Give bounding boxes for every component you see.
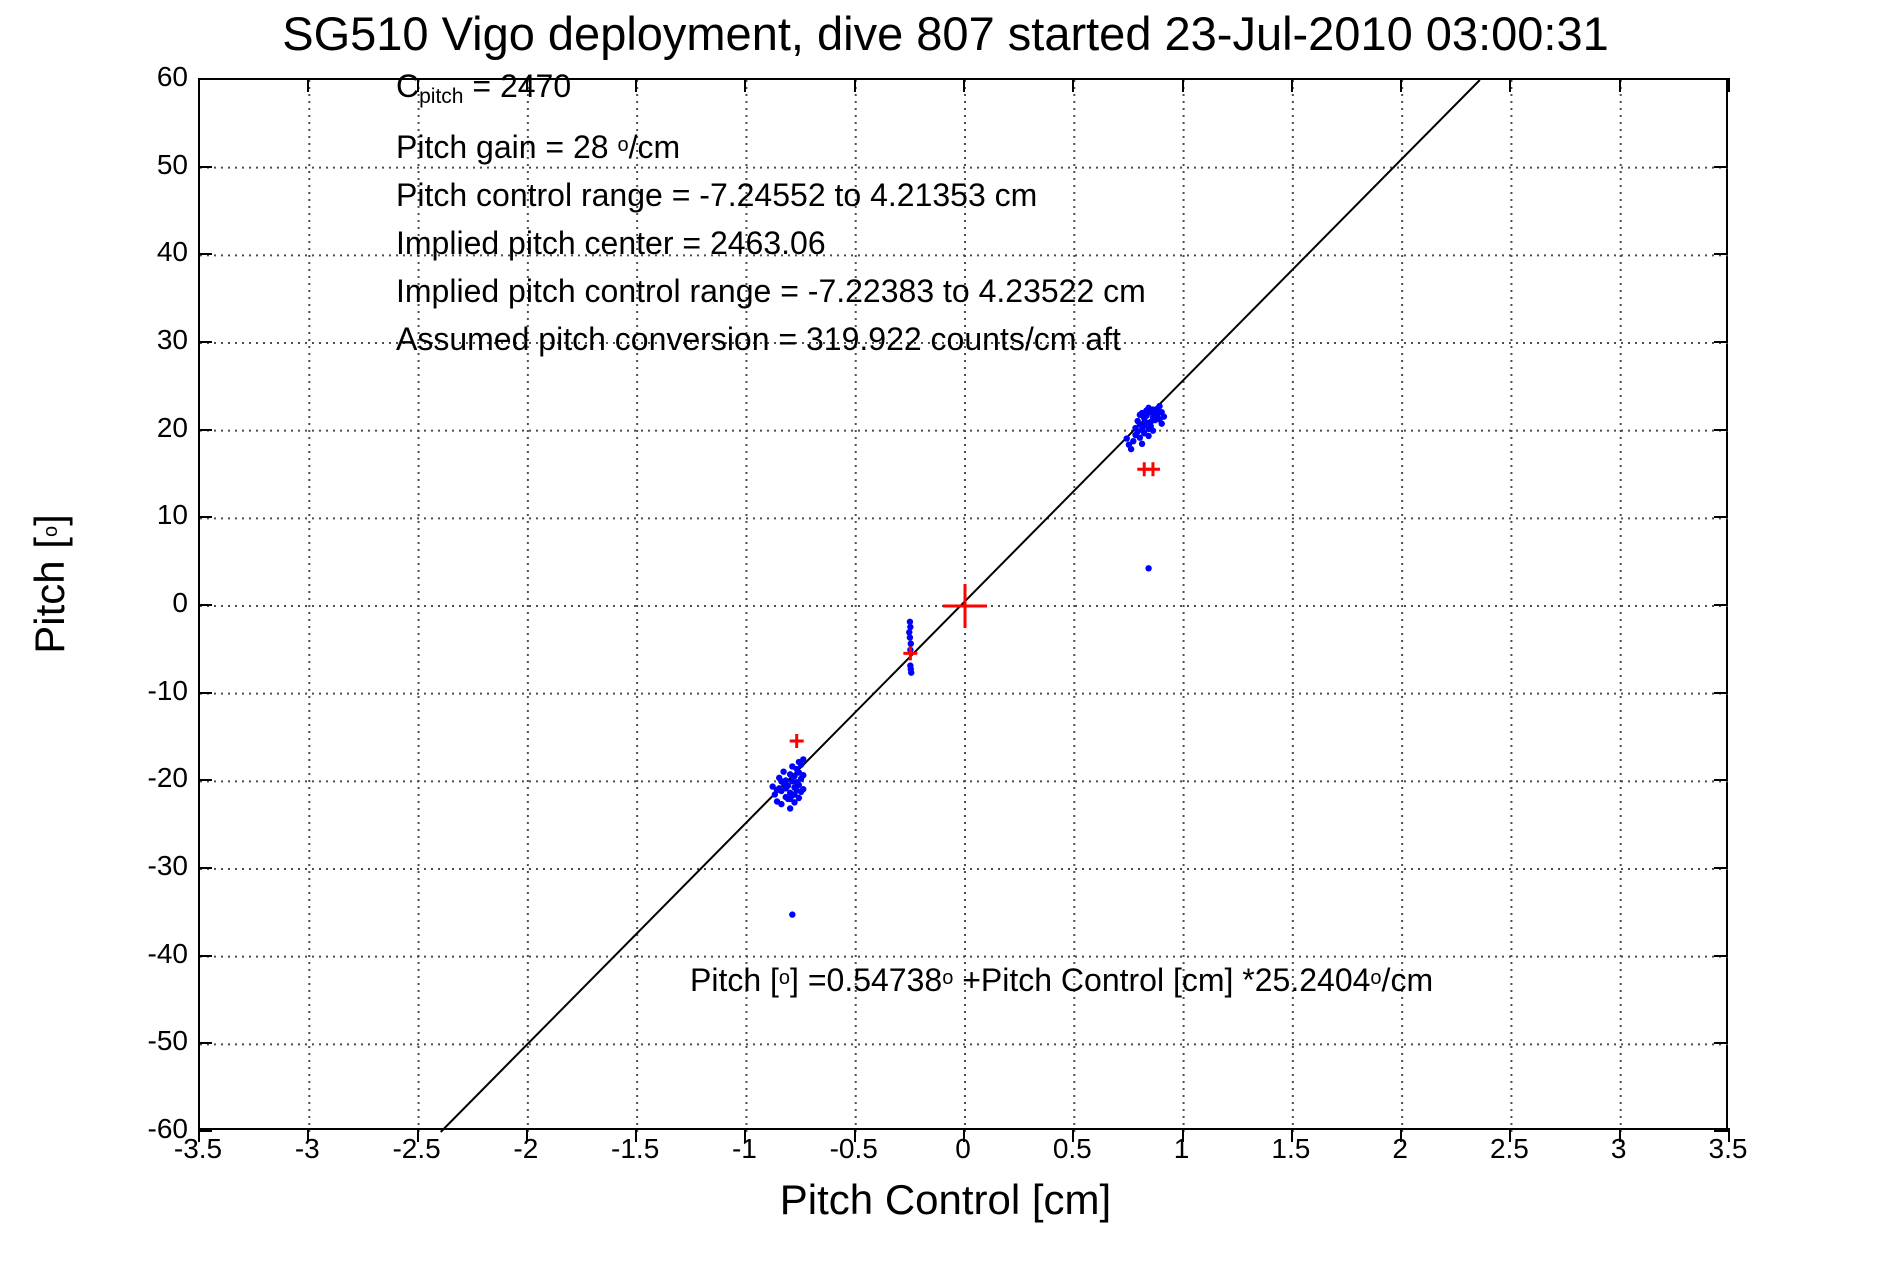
degree-symbol-y: o: [40, 526, 62, 537]
data-point-marker: [800, 772, 806, 778]
y-tick-label: 30: [68, 326, 188, 354]
y-tick-mark: [1714, 955, 1728, 957]
y-tick-label: 60: [68, 63, 188, 91]
equation-part-1: Pitch [: [690, 962, 779, 998]
chart-root: SG510 Vigo deployment, dive 807 started …: [0, 0, 1891, 1262]
data-point-marker: [1161, 413, 1167, 419]
data-point-marker: [908, 640, 914, 646]
y-tick-label: -50: [68, 1027, 188, 1055]
y-tick-mark: [198, 692, 212, 694]
x-tick-mark: [1619, 78, 1621, 92]
y-tick-mark: [1714, 1130, 1728, 1132]
x-tick-mark: [1291, 1128, 1293, 1142]
data-point-marker: [780, 768, 786, 774]
x-axis-title: Pitch Control [cm]: [0, 1176, 1891, 1224]
chart-title: SG510 Vigo deployment, dive 807 started …: [0, 6, 1891, 61]
x-tick-mark: [1509, 78, 1511, 92]
scatter-points: [769, 403, 1167, 918]
cpitch-label: C: [396, 68, 419, 104]
data-point-marker: [1156, 403, 1162, 409]
annotation-line-pitch-gain: Pitch gain = 28 o/cm: [396, 121, 1496, 171]
data-point-marker: [789, 911, 795, 917]
data-point-marker: [1126, 441, 1132, 447]
x-tick-mark: [307, 78, 309, 92]
data-point-marker: [783, 785, 789, 791]
data-point-marker: [778, 778, 784, 784]
y-tick-label: -10: [68, 677, 188, 705]
degree-symbol-2: o: [942, 967, 953, 989]
y-axis-title-tail: ]: [26, 514, 73, 526]
annotation-line-pitch-control-range: Pitch control range = -7.24552 to 4.2135…: [396, 171, 1496, 219]
y-tick-label: -30: [68, 852, 188, 880]
annotation-line-conversion: Assumed pitch conversion = 319.922 count…: [396, 315, 1496, 363]
data-point-marker: [1124, 435, 1130, 441]
x-tick-mark: [198, 1128, 200, 1142]
y-tick-label: 20: [68, 414, 188, 442]
cpitch-value: = 2470: [463, 68, 571, 104]
y-tick-mark: [1714, 166, 1728, 168]
x-tick-mark: [635, 1128, 637, 1142]
y-tick-mark: [1714, 867, 1728, 869]
equation-part-3: +Pitch Control [cm] *25.2404: [953, 962, 1370, 998]
data-point-marker: [1145, 565, 1151, 571]
degree-symbol-1: o: [779, 967, 790, 989]
y-tick-mark: [198, 1130, 212, 1132]
y-tick-mark: [1714, 692, 1728, 694]
x-tick-mark: [854, 1128, 856, 1142]
data-point-marker: [787, 805, 793, 811]
x-tick-mark: [1072, 1128, 1074, 1142]
data-point-marker-plus: [790, 734, 804, 748]
y-tick-mark: [1714, 1042, 1728, 1044]
y-tick-mark: [198, 779, 212, 781]
x-tick-mark: [1400, 1128, 1402, 1142]
y-axis-title: Pitch [o]: [26, 374, 74, 794]
data-point-marker: [778, 801, 784, 807]
data-point-marker: [774, 787, 780, 793]
x-tick-mark: [1728, 78, 1730, 92]
y-tick-label: 40: [68, 238, 188, 266]
y-tick-mark: [198, 1042, 212, 1044]
x-tick-mark: [307, 1128, 309, 1142]
data-point-marker-plus: [1146, 462, 1160, 476]
y-tick-mark: [198, 516, 212, 518]
data-point-marker: [908, 669, 914, 675]
cpitch-subscript: pitch: [419, 85, 463, 108]
x-tick-mark: [417, 1128, 419, 1142]
y-tick-mark: [198, 166, 212, 168]
pitch-gain-label: Pitch gain = 28: [396, 129, 617, 165]
degree-symbol-gain: o: [617, 134, 628, 156]
data-point-marker: [1139, 441, 1145, 447]
data-point-marker: [1159, 420, 1165, 426]
annotation-block: Cpitch = 2470 Pitch gain = 28 o/cm Pitch…: [396, 62, 1496, 363]
pitch-gain-units: /cm: [629, 129, 681, 165]
data-point-marker-plus: [943, 584, 987, 628]
x-tick-mark: [1182, 1128, 1184, 1142]
y-axis-title-text: Pitch [: [26, 537, 73, 654]
y-tick-mark: [198, 955, 212, 957]
y-tick-label: -40: [68, 940, 188, 968]
y-tick-mark: [1714, 779, 1728, 781]
equation-part-4: /cm: [1382, 962, 1434, 998]
data-point-marker: [907, 634, 913, 640]
y-tick-mark: [198, 341, 212, 343]
x-tick-mark: [526, 1128, 528, 1142]
data-point-marker: [800, 786, 806, 792]
y-tick-mark: [1714, 429, 1728, 431]
y-tick-mark: [198, 604, 212, 606]
y-tick-mark: [1714, 604, 1728, 606]
degree-symbol-3: o: [1370, 967, 1381, 989]
y-tick-mark: [1714, 78, 1728, 80]
y-tick-mark: [1714, 516, 1728, 518]
annotation-line-cpitch: Cpitch = 2470: [396, 62, 1496, 121]
data-point-marker: [1145, 433, 1151, 439]
x-tick-mark: [963, 1128, 965, 1142]
y-tick-mark: [198, 867, 212, 869]
data-point-marker: [1150, 427, 1156, 433]
y-tick-mark: [1714, 253, 1728, 255]
equation-part-2: ] =0.54738: [790, 962, 942, 998]
x-tick-mark: [1728, 1128, 1730, 1142]
data-point-marker-plus: [903, 646, 917, 660]
x-tick-mark: [198, 78, 200, 92]
y-tick-label: 10: [68, 501, 188, 529]
y-tick-label: 0: [68, 589, 188, 617]
y-tick-mark: [198, 429, 212, 431]
y-tick-label: 50: [68, 151, 188, 179]
annotation-line-implied-center: Implied pitch center = 2463.06: [396, 219, 1496, 267]
y-tick-mark: [198, 78, 212, 80]
y-tick-mark: [198, 253, 212, 255]
x-tick-mark: [1509, 1128, 1511, 1142]
data-point-marker: [800, 756, 806, 762]
fit-equation: Pitch [o] =0.54738o +Pitch Control [cm] …: [690, 962, 1433, 999]
data-point-marker: [796, 795, 802, 801]
y-tick-mark: [1714, 341, 1728, 343]
y-tick-label: -20: [68, 764, 188, 792]
data-point-marker: [907, 624, 913, 630]
annotation-line-implied-range: Implied pitch control range = -7.22383 t…: [396, 267, 1496, 315]
x-tick-mark: [1619, 1128, 1621, 1142]
x-tick-mark: [744, 1128, 746, 1142]
